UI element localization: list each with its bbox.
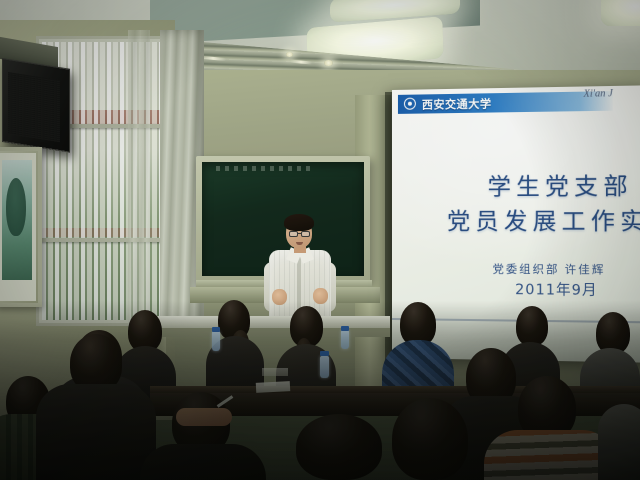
poster-figure: [6, 178, 26, 236]
curtain[interactable]: [128, 30, 150, 330]
slide-title-line-2: 党员发展工作实: [447, 201, 640, 236]
front-ledge-shadow: [150, 328, 390, 337]
bottle-cap: [212, 327, 220, 332]
water-bottle[interactable]: [320, 356, 329, 378]
water-bottle[interactable]: [212, 331, 220, 351]
glasses-bridge: [298, 233, 302, 234]
audience-body: [598, 404, 640, 480]
audience-head: [392, 398, 468, 480]
recessed-pot-light: [324, 60, 333, 66]
slide-english-name: Xi'an J: [583, 88, 612, 100]
recessed-pot-light: [286, 52, 293, 57]
slide-author: 许佳辉: [565, 261, 606, 278]
paper-sheet[interactable]: [262, 368, 288, 376]
audience-head: [516, 306, 548, 346]
university-seal-icon: [408, 102, 412, 106]
water-bottle[interactable]: [341, 330, 349, 349]
lecture-hall-photo: 西安交通大学 Xi'an J 学生党支部 党员发展工作实 党委组织部 许佳辉 2…: [0, 0, 640, 480]
slide-logo-text: 西安交通大学: [422, 95, 492, 112]
audience-body: [36, 384, 156, 480]
chalk-marks: [216, 166, 312, 171]
slide-title-line-1: 学生党支部: [488, 166, 633, 202]
speaker-grille: [8, 72, 60, 142]
glasses-icon: [301, 231, 310, 237]
audience-body: [140, 444, 266, 480]
bottle-cap: [320, 351, 329, 356]
slide-date: 2011年9月: [515, 279, 598, 300]
slide-organization: 党委组织部: [493, 260, 560, 277]
glasses-icon: [289, 231, 298, 237]
audience-arm: [176, 408, 232, 426]
presenter-hand: [272, 289, 287, 305]
front-ledge: [150, 316, 390, 328]
notebook[interactable]: [256, 381, 290, 393]
presenter-hand: [313, 288, 328, 304]
ceiling-light-panel: [601, 0, 640, 26]
audience-head: [296, 414, 382, 480]
audience-body-striped-polo: [484, 430, 616, 480]
bottle-cap: [341, 326, 349, 331]
presenter-hair: [284, 214, 314, 231]
